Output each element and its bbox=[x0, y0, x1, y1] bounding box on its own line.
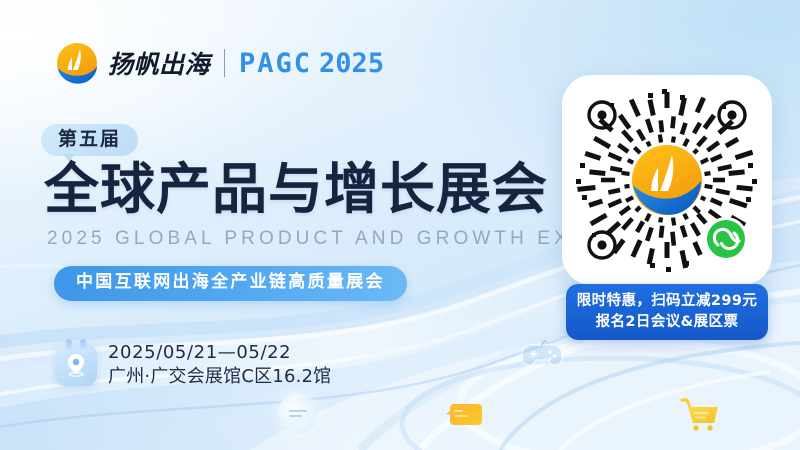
edition-badge-wrap: 第五届 bbox=[41, 124, 138, 156]
event-date: 2025/05/21—05/22 bbox=[108, 341, 331, 365]
promo-line-1: 限时特惠，扫码立减299元 bbox=[572, 291, 762, 312]
event-year: 2025 bbox=[319, 48, 384, 79]
event-place: 广州·广交会展馆C区16.2馆 bbox=[108, 365, 331, 389]
promo-line-2: 报名2日会议&展区票 bbox=[572, 312, 762, 333]
brand-name-cn: 扬帆出海 bbox=[108, 45, 210, 81]
shopping-cart-icon bbox=[680, 398, 720, 432]
promo-banner: 扬帆出海 PAGC 2025 第五届 全球产品与增长展会 2025 GLOBAL… bbox=[0, 0, 800, 450]
page-title: 全球产品与增长展会 bbox=[44, 160, 548, 218]
promo-discount-banner[interactable]: 限时特惠，扫码立减299元 报名2日会议&展区票 bbox=[566, 284, 768, 340]
edition-badge: 第五届 bbox=[41, 124, 138, 156]
qr-code-card[interactable] bbox=[562, 75, 772, 285]
logo-divider bbox=[224, 49, 225, 77]
credit-card-icon bbox=[442, 400, 484, 428]
chip-circle-icon bbox=[278, 394, 318, 434]
event-code: PAGC bbox=[239, 48, 312, 79]
wechat-miniprogram-badge-icon bbox=[704, 217, 748, 261]
wechat-miniprogram-qr-code[interactable] bbox=[562, 75, 772, 285]
tagline-pill: 中国互联网出海全产业链高质量展会 bbox=[54, 266, 407, 301]
brand-logo-lockup[interactable]: 扬帆出海 PAGC 2025 bbox=[56, 42, 384, 84]
event-code-logo: PAGC 2025 bbox=[239, 48, 384, 79]
gamepad-icon bbox=[521, 340, 563, 370]
venue-text: 2025/05/21—05/22 广州·广交会展馆C区16.2馆 bbox=[108, 341, 331, 389]
sail-boat-sun-logo-icon bbox=[56, 42, 98, 84]
location-pin-icon bbox=[55, 344, 97, 386]
venue-block: 2025/05/21—05/22 广州·广交会展馆C区16.2馆 bbox=[55, 341, 331, 389]
